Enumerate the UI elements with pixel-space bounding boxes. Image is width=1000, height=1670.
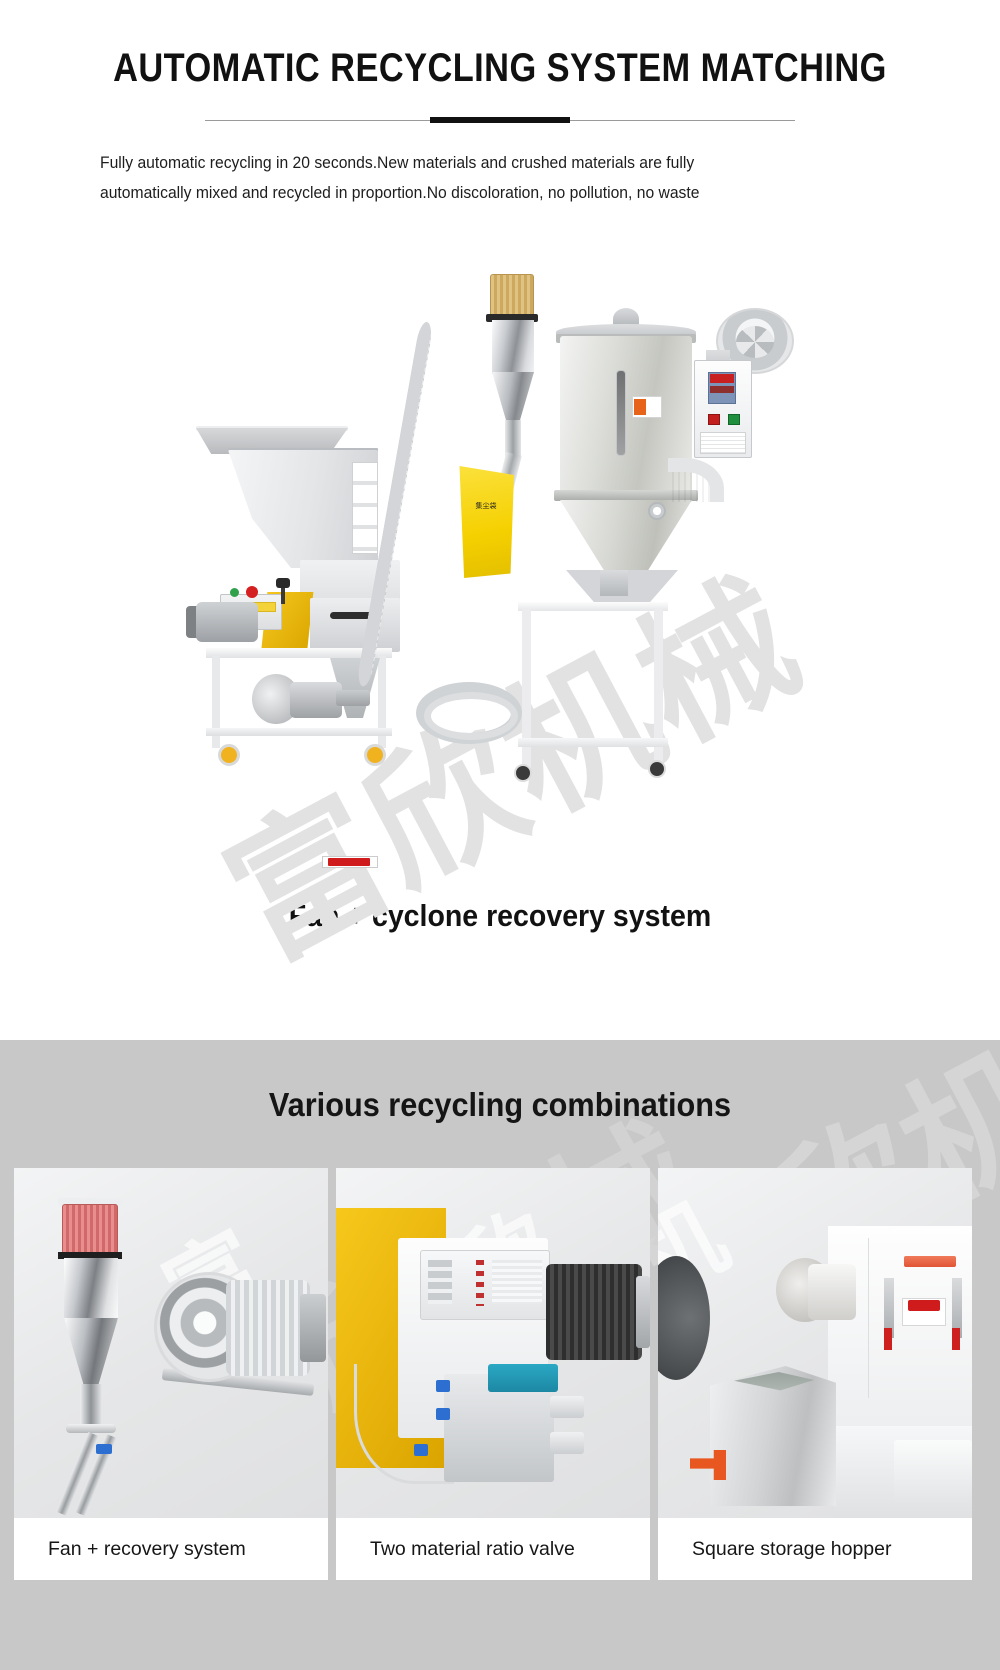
subtitle-line-1: Fully automatic recycling in 20 seconds.… bbox=[100, 148, 860, 178]
ring-blower-end-cap bbox=[300, 1294, 326, 1362]
hero-section: AUTOMATIC RECYCLING SYSTEM MATCHING Full… bbox=[0, 0, 1000, 1043]
cyclone-body bbox=[492, 320, 534, 374]
blower-fan-blade bbox=[736, 326, 774, 358]
controller-led-indicators bbox=[476, 1260, 484, 1306]
caster-wheel-right bbox=[364, 744, 386, 766]
warning-sticker-strip bbox=[352, 462, 378, 554]
card-caption-square-storage-hopper: Square storage hopper bbox=[658, 1518, 972, 1580]
dust-collection-bag bbox=[456, 466, 514, 578]
panel-spec-plate bbox=[700, 432, 746, 454]
cyclone-cartridge-filter bbox=[490, 274, 534, 316]
material-port-1 bbox=[550, 1396, 584, 1418]
dryer-cone bbox=[560, 500, 692, 576]
card-image-square-storage-hopper: 机 bbox=[658, 1168, 972, 1518]
caster-wheel-left bbox=[218, 744, 240, 766]
dryer-caster-left bbox=[514, 764, 532, 782]
adjust-knob-stem bbox=[281, 586, 285, 604]
subtitle-line-2: automatically mixed and recycled in prop… bbox=[100, 178, 860, 208]
hero-caption: Fan + cyclone recovery system bbox=[40, 898, 960, 934]
blue-push-fitting-3-icon bbox=[414, 1444, 428, 1456]
valve-drive-motor bbox=[546, 1264, 642, 1360]
adjacent-motor-housing bbox=[658, 1256, 710, 1380]
ring-blower-outlet-pipe bbox=[336, 690, 370, 706]
emergency-stop-icon bbox=[246, 586, 258, 598]
divider-line-left bbox=[205, 120, 430, 121]
cyclone-hopper-body bbox=[64, 1258, 118, 1320]
card-two-material-ratio-valve[interactable]: 欣 Two material ratio valve bbox=[336, 1168, 650, 1580]
drive-drum-cover bbox=[808, 1264, 856, 1320]
pressure-gauge-icon bbox=[648, 502, 666, 520]
dryer-warning-sticker-icon bbox=[634, 399, 646, 415]
orange-latch-handle bbox=[690, 1450, 726, 1480]
dryer-stand-top-rail bbox=[518, 602, 668, 611]
granulator-motor bbox=[196, 602, 258, 642]
orange-label-strip bbox=[904, 1256, 956, 1267]
ring-blower-finned-body bbox=[226, 1280, 310, 1376]
card-fan-recovery-system[interactable]: 富 Fan + recovery system bbox=[14, 1168, 328, 1580]
divider-accent-bar bbox=[430, 117, 570, 123]
card-image-two-material-ratio-valve: 欣 bbox=[336, 1168, 650, 1518]
cyclone-outlet-stem bbox=[80, 1384, 102, 1428]
start-button-green-icon bbox=[230, 588, 239, 597]
cart-lower-shelf bbox=[206, 728, 392, 736]
dryer-outlet bbox=[600, 570, 628, 596]
clamp-handle-red-left bbox=[884, 1328, 892, 1350]
divider-line-right bbox=[570, 120, 795, 121]
hose-coil-inner bbox=[424, 692, 518, 740]
clamp-handle-red-right bbox=[952, 1328, 960, 1350]
controller-label-plate bbox=[492, 1260, 542, 1304]
card-caption-two-material-ratio-valve: Two material ratio valve bbox=[336, 1518, 650, 1580]
danger-label-red bbox=[328, 858, 370, 866]
adjust-knob bbox=[276, 578, 290, 588]
material-port-2 bbox=[550, 1432, 584, 1454]
cyclone-flange bbox=[66, 1424, 116, 1433]
machine-base-slot bbox=[894, 1440, 972, 1508]
dryer-sight-glass bbox=[616, 370, 626, 456]
run-button-icon bbox=[728, 414, 740, 425]
hot-air-duct bbox=[668, 458, 724, 502]
ring-blower-motor bbox=[290, 682, 342, 718]
stop-button-icon bbox=[708, 414, 720, 425]
granulator-lower-chamber bbox=[310, 598, 400, 652]
title-divider bbox=[0, 117, 1000, 125]
page-title: AUTOMATIC RECYCLING SYSTEM MATCHING bbox=[70, 46, 930, 91]
controller-keypad bbox=[428, 1260, 452, 1304]
section-title: Various recycling combinations bbox=[35, 1086, 965, 1124]
temperature-display-set-readout bbox=[710, 386, 734, 393]
blue-push-fitting-2-icon bbox=[436, 1408, 450, 1420]
card-square-storage-hopper[interactable]: 机 Square storage hopper bbox=[658, 1168, 972, 1580]
blue-push-fitting-1-icon bbox=[436, 1380, 450, 1392]
dust-bag-label: 集尘袋 bbox=[460, 502, 512, 511]
temperature-display-red-readout bbox=[710, 374, 734, 383]
combination-cards: 富 Fan + recovery system 欣 bbox=[14, 1168, 986, 1580]
card-image-fan-recovery-system: 富 bbox=[14, 1168, 328, 1518]
dryer-stand-bottom-rail bbox=[518, 738, 668, 747]
subtitle-block: Fully automatic recycling in 20 seconds.… bbox=[100, 148, 860, 208]
hero-product-photo: 富欣机械 bbox=[0, 250, 1000, 810]
blue-fitting-icon bbox=[96, 1444, 112, 1454]
blue-solenoid-valve bbox=[488, 1364, 558, 1392]
danger-label-red bbox=[908, 1300, 940, 1311]
cyclone-hopper-cone bbox=[64, 1318, 118, 1388]
motor-end-cap bbox=[636, 1276, 650, 1348]
cyclone-cone bbox=[492, 372, 534, 424]
red-cartridge-filter bbox=[62, 1204, 118, 1254]
dryer-caster-right bbox=[648, 760, 666, 778]
product-detail-page: AUTOMATIC RECYCLING SYSTEM MATCHING Full… bbox=[0, 0, 1000, 1670]
card-caption-fan-recovery-system: Fan + recovery system bbox=[14, 1518, 328, 1580]
